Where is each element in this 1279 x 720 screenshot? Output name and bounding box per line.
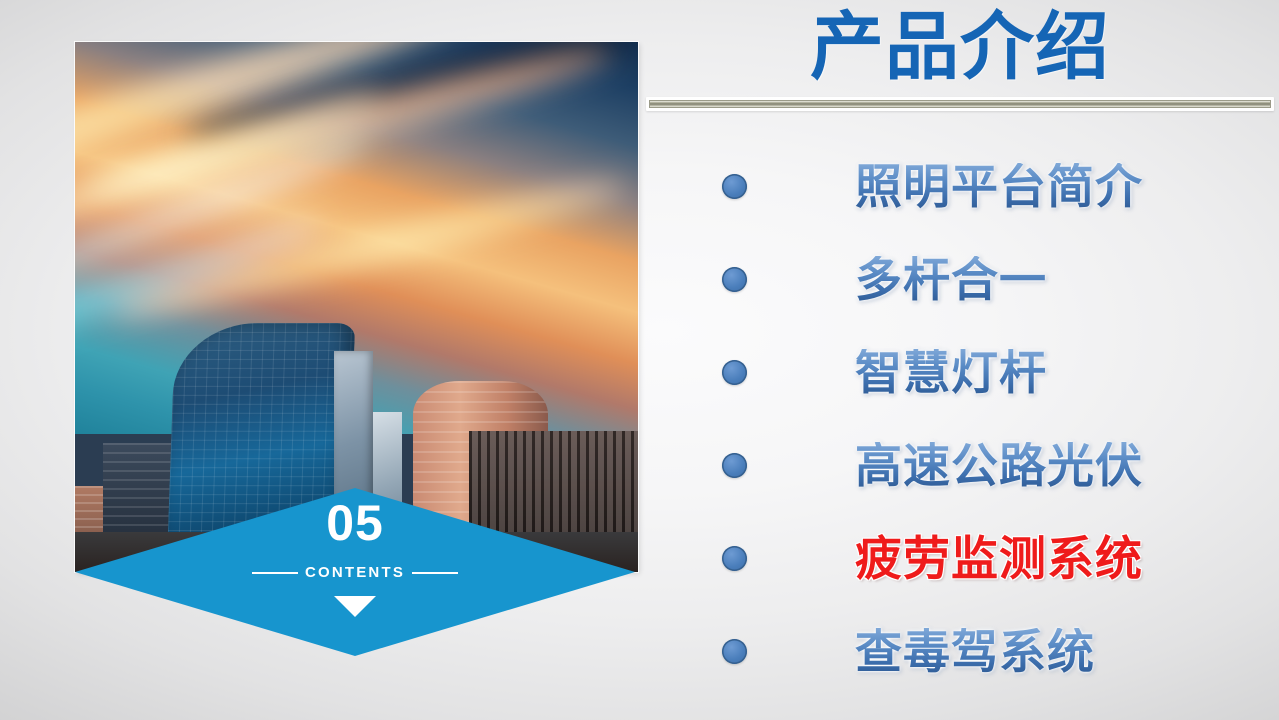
title-divider-bar <box>646 97 1274 111</box>
bullet-dot-icon <box>722 360 747 385</box>
presentation-slide: 05 CONTENTS 产品介绍 照明平台简介 多杆合一 智慧灯杆 高速公路光伏 <box>0 0 1279 720</box>
bullet-dot-icon <box>722 639 747 664</box>
page-title: 产品介绍 <box>650 4 1270 89</box>
list-item[interactable]: 高速公路光伏 <box>700 419 1260 512</box>
contents-caption: CONTENTS <box>305 564 405 581</box>
list-item-label: 智慧灯杆 <box>855 349 1047 396</box>
list-item[interactable]: 照明平台简介 <box>700 140 1260 233</box>
bullet-dot-icon <box>722 174 747 199</box>
title-divider-inner <box>649 100 1271 108</box>
bullet-dot-icon <box>722 546 747 571</box>
rule-left <box>252 572 298 574</box>
list-item[interactable]: 多杆合一 <box>700 233 1260 326</box>
bullet-dot-icon <box>722 453 747 478</box>
list-item-label: 查毒驾系统 <box>855 628 1095 675</box>
list-item-label: 高速公路光伏 <box>855 442 1143 489</box>
contents-caption-row: CONTENTS <box>75 564 635 581</box>
list-item-label: 疲劳监测系统 <box>855 535 1143 582</box>
list-item-label: 多杆合一 <box>855 256 1047 303</box>
triangle-down-icon <box>334 596 376 617</box>
list-item[interactable]: 智慧灯杆 <box>700 326 1260 419</box>
bullet-dot-icon <box>722 267 747 292</box>
contents-list: 照明平台简介 多杆合一 智慧灯杆 高速公路光伏 疲劳监测系统 查毒驾系统 <box>700 140 1260 698</box>
rule-right <box>412 572 458 574</box>
list-item-highlighted[interactable]: 疲劳监测系统 <box>700 512 1260 605</box>
list-item[interactable]: 查毒驾系统 <box>700 605 1260 698</box>
list-item-label: 照明平台简介 <box>855 163 1143 210</box>
